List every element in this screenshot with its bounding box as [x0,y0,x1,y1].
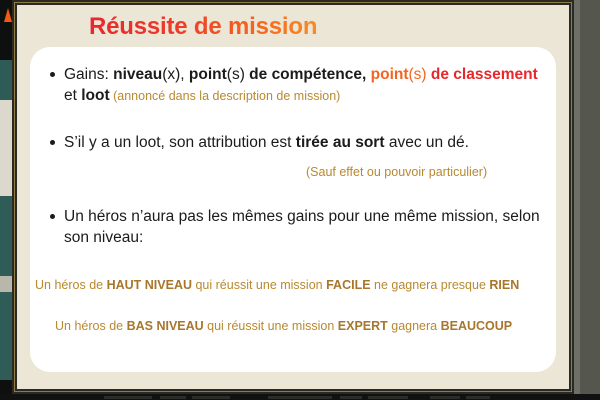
seg: (x), [162,66,189,83]
bullet-text: Gains: niveau(x), point(s) de compétence… [64,64,540,107]
sub-note: (Sauf effet ou pouvoir particulier) [306,165,487,179]
seg: qui réussit une mission [192,278,326,292]
slide: Réussite de mission Gains: niveau(x), po… [17,5,569,389]
seg: Un héros de [55,319,127,333]
seg: BAS NIVEAU [127,319,204,333]
slide-viewport: Réussite de mission Gains: niveau(x), po… [0,0,600,400]
seg: RIEN [489,278,519,292]
seg: EXPERT [338,319,388,333]
bullet-dot-icon [50,140,55,145]
seg: qui réussit une mission [204,319,338,333]
seg: S’il y a un loot, son attribution est [64,134,296,151]
seg: Gains: [64,66,113,83]
seg: BEAUCOUP [441,319,513,333]
seg: (s) [409,66,427,83]
list-item: Un héros n’aura pas les mêmes gains pour… [50,206,545,248]
seg: de classement [427,66,538,83]
seg-note: (annoncé dans la description de mission) [110,89,341,103]
seg: (s) [227,66,249,83]
seg: de compétence, [249,66,370,83]
page-title: Réussite de mission [89,13,317,41]
bullet-dot-icon [50,72,55,77]
seg: gagnera [388,319,441,333]
bullet-text: Un héros n’aura pas les mêmes gains pour… [64,206,545,248]
seg: point [371,66,409,83]
bottom-chrome [0,394,600,400]
bullet-dot-icon [50,214,55,219]
bullet-text: S’il y a un loot, son attribution est ti… [64,132,469,153]
seg: FACILE [326,278,370,292]
seg: avec un dé. [385,134,469,151]
seg: loot [81,87,109,104]
seg: point [189,66,227,83]
list-item: Gains: niveau(x), point(s) de compétence… [50,64,540,107]
seg: Un héros de [35,278,107,292]
orange-triangle-icon [4,8,12,22]
seg: Un héros n’aura pas les mêmes gains pour… [64,208,540,246]
seg: niveau [113,66,162,83]
right-panel [580,0,600,400]
seg: ne gagnera presque [371,278,490,292]
content-card: Gains: niveau(x), point(s) de compétence… [30,47,556,372]
list-item: S’il y a un loot, son attribution est ti… [50,132,540,153]
seg: et [64,87,81,104]
example-line: Un héros de HAUT NIVEAU qui réussit une … [35,278,519,292]
seg: HAUT NIVEAU [107,278,192,292]
seg: tirée au sort [296,134,385,151]
example-line: Un héros de BAS NIVEAU qui réussit une m… [55,319,512,333]
